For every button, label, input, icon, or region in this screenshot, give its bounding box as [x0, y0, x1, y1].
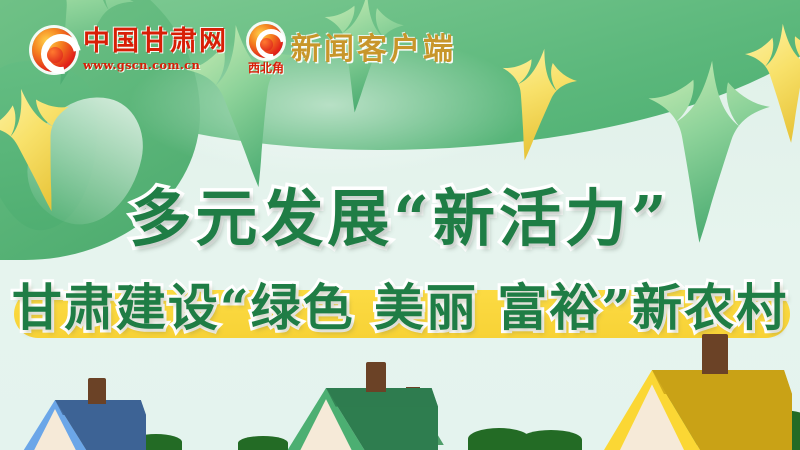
house-blue-chimney	[88, 378, 106, 404]
site-logo-group[interactable]: 中国甘肃网 www.gscn.com.cn	[32, 28, 228, 72]
header-logos: 中国甘肃网 www.gscn.com.cn 西北角 新闻客户端	[32, 24, 456, 76]
village-illustration	[0, 330, 800, 450]
app-mark-column: 西北角	[248, 24, 284, 76]
house-yellow-chimney	[702, 334, 728, 374]
house-blue	[16, 400, 146, 450]
page-title: 多元发展“新活力”	[0, 168, 800, 258]
site-url: www.gscn.com.cn	[83, 58, 200, 72]
app-name: 新闻客户端	[291, 35, 456, 65]
poster-canvas: 中国甘肃网 www.gscn.com.cn 西北角 新闻客户端 多元发展“新活力…	[0, 0, 800, 450]
leaf-yellow-right-icon	[735, 17, 800, 150]
app-mark-caption: 西北角	[248, 59, 284, 76]
site-name: 中国甘肃网	[83, 28, 228, 55]
gansu-net-logo-icon	[32, 28, 76, 72]
house-green-chimney	[366, 362, 386, 392]
bush-4	[520, 430, 582, 450]
xibeijiao-logo-icon	[249, 24, 283, 58]
house-yellow	[592, 370, 792, 450]
site-brand-block: 中国甘肃网 www.gscn.com.cn	[83, 28, 228, 72]
app-logo-group[interactable]: 西北角 新闻客户端	[248, 24, 456, 76]
house-green	[278, 388, 438, 450]
